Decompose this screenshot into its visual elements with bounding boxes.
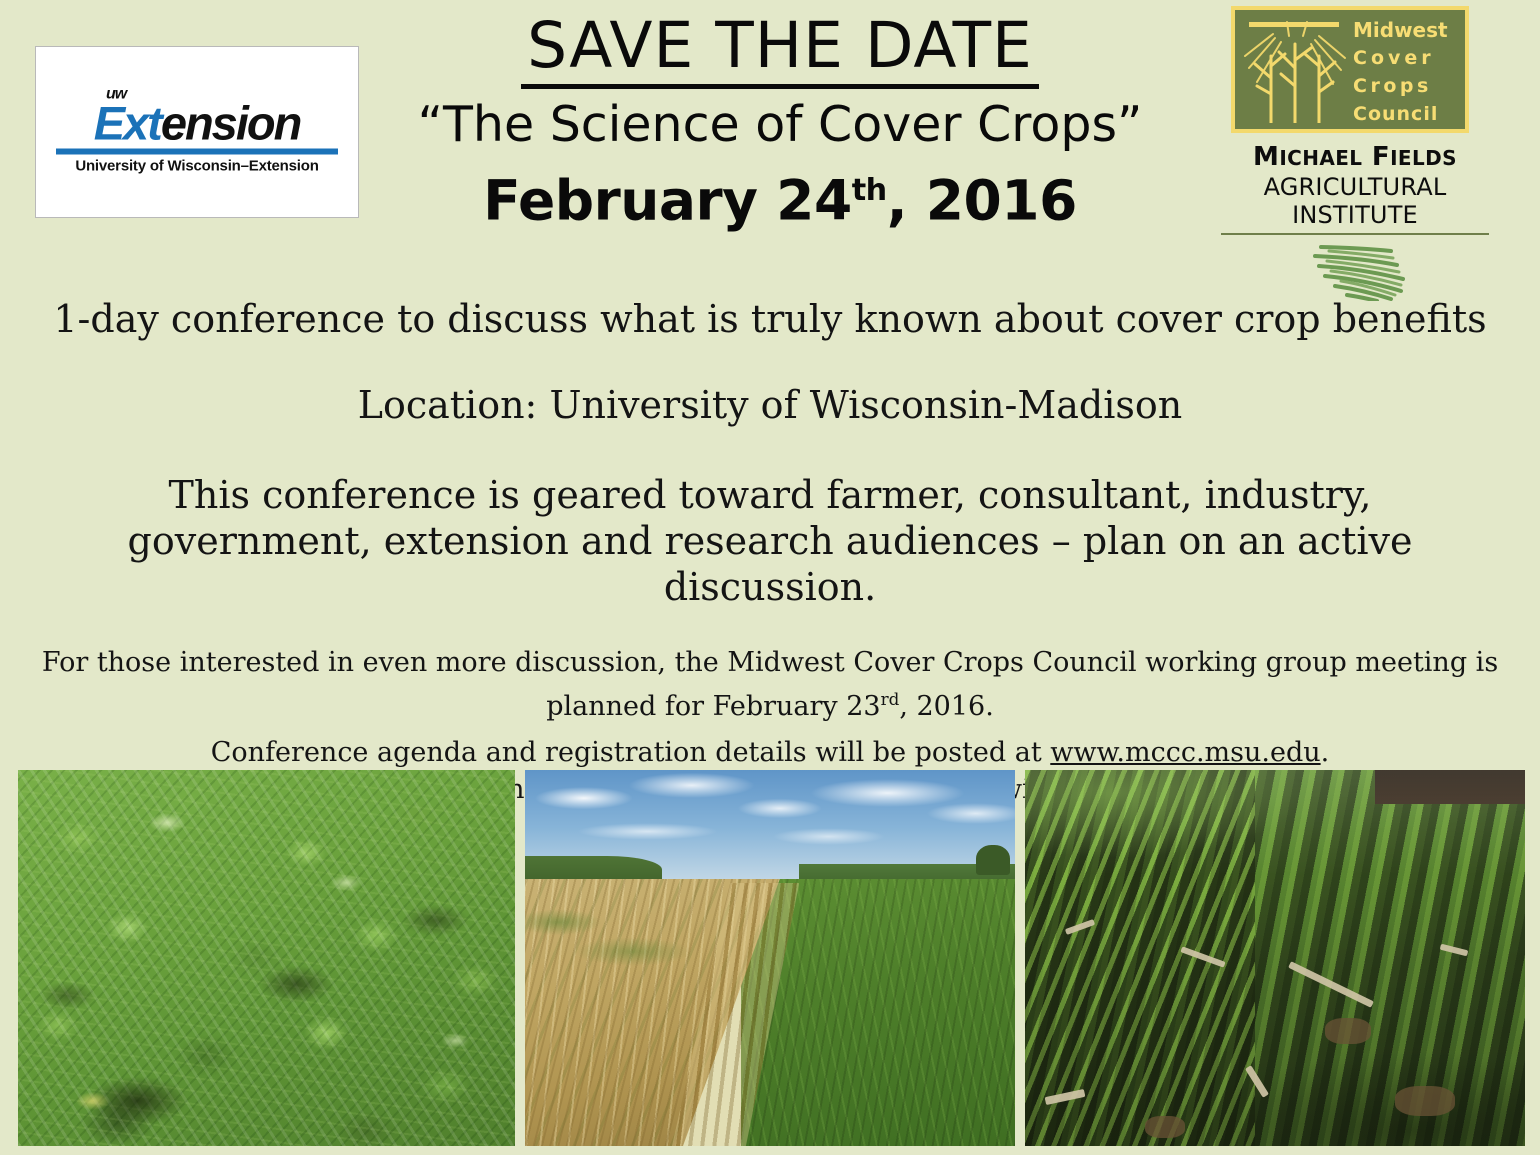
p2-right-bush bbox=[976, 845, 1010, 875]
flyer-header: uw Extension University of Wisconsin–Ext… bbox=[0, 0, 1540, 272]
mf-ichael: ICHAEL bbox=[1279, 146, 1362, 170]
small-copy-2b: . bbox=[1321, 737, 1330, 768]
uw-extension-ext-text: Ext bbox=[94, 97, 161, 150]
mccc-corn-rows-icon bbox=[1241, 16, 1349, 123]
uw-extension-subtitle: University of Wisconsin–Extension bbox=[54, 158, 340, 175]
michael-fields-rule bbox=[1221, 233, 1489, 235]
p1-highlights bbox=[18, 770, 515, 1146]
photo-split-field bbox=[525, 770, 1015, 1146]
uw-extension-uw-mark: uw bbox=[106, 86, 126, 104]
mccc-line-midwest: Midwest bbox=[1353, 16, 1471, 44]
mccc-line-council: Council bbox=[1353, 100, 1471, 128]
mccc-corn-stalks-svg bbox=[1241, 16, 1349, 123]
conference-date-monthday: February 24 bbox=[483, 168, 852, 232]
photo-brassica-cover-crop bbox=[18, 770, 515, 1146]
lead-line-1: 1-day conference to discuss what is trul… bbox=[0, 296, 1540, 342]
small-copy-1-ordinal: rd bbox=[881, 689, 900, 709]
photo-strip bbox=[0, 770, 1540, 1146]
uw-extension-ension-text: ension bbox=[161, 97, 300, 150]
michael-fields-line1: MICHAEL FIELDS bbox=[1215, 142, 1495, 172]
mccc-line-cover: Cover bbox=[1353, 44, 1471, 72]
small-copy-line-2: Conference agenda and registration detai… bbox=[28, 734, 1512, 771]
small-copy-1a: For those interested in even more discus… bbox=[42, 647, 1498, 722]
small-copy-line-1: For those interested in even more discus… bbox=[28, 644, 1512, 725]
body-copy: 1-day conference to discuss what is trul… bbox=[0, 278, 1540, 808]
michael-fields-line2: AGRICULTURAL INSTITUTE bbox=[1215, 173, 1495, 229]
lead-line-3: This conference is geared toward farmer,… bbox=[0, 472, 1540, 610]
title-block: SAVE THE DATE “The Science of Cover Crop… bbox=[380, 10, 1180, 232]
flyer-page: uw Extension University of Wisconsin–Ext… bbox=[0, 0, 1540, 1155]
save-the-date-heading: SAVE THE DATE bbox=[521, 10, 1039, 89]
small-copy-2a: Conference agenda and registration detai… bbox=[211, 737, 1051, 768]
p2-weed-patches bbox=[525, 883, 711, 981]
mf-m-cap: M bbox=[1253, 142, 1279, 172]
small-copy-1b: , 2016. bbox=[899, 691, 993, 722]
mccc-line-crops: Crops bbox=[1353, 72, 1471, 100]
mccc-horizon-bar bbox=[1249, 22, 1339, 27]
mccc-website-link[interactable]: www.mccc.msu.edu bbox=[1050, 737, 1320, 768]
uw-extension-logo-inner: uw Extension University of Wisconsin–Ext… bbox=[54, 90, 340, 175]
mccc-wordmark: Midwest Cover Crops Council bbox=[1353, 16, 1471, 128]
uw-extension-wordmark: Extension bbox=[54, 90, 340, 148]
p3-soil-clod bbox=[1325, 1018, 1371, 1044]
p3-perspective-shading bbox=[1025, 770, 1525, 1146]
lead-line-2: Location: University of Wisconsin-Madiso… bbox=[0, 382, 1540, 428]
p3-soil-clod bbox=[1395, 1086, 1455, 1116]
midwest-cover-crops-council-logo: Midwest Cover Crops Council bbox=[1231, 6, 1469, 133]
photo-rye-seedling-rows bbox=[1025, 770, 1525, 1146]
conference-date-year: , 2016 bbox=[887, 168, 1077, 232]
conference-date: February 24th, 2016 bbox=[380, 159, 1180, 232]
p3-soil-clod bbox=[1145, 1116, 1185, 1138]
mf-f-cap: F bbox=[1372, 142, 1390, 172]
uw-extension-logo: uw Extension University of Wisconsin–Ext… bbox=[35, 46, 359, 218]
conference-date-ordinal: th bbox=[852, 173, 887, 208]
mf-ields: IELDS bbox=[1390, 146, 1457, 170]
conference-subtitle: “The Science of Cover Crops” bbox=[380, 93, 1180, 157]
save-the-date-wrap: SAVE THE DATE bbox=[380, 10, 1180, 89]
